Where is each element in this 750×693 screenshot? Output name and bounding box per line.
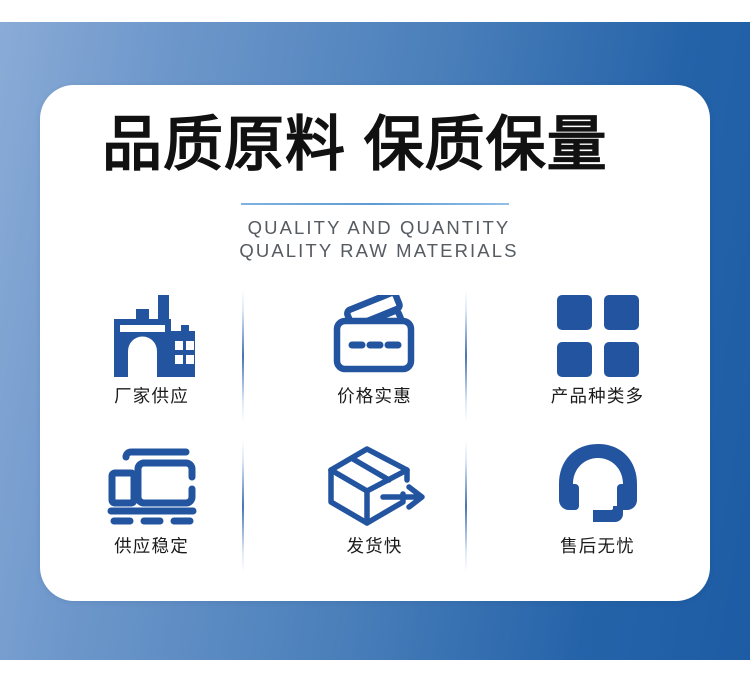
feature-item-product-variety[interactable]: 产品种类多 [486, 281, 709, 431]
feature-label: 产品种类多 [486, 385, 709, 407]
feature-label: 厂家供应 [40, 385, 263, 407]
feature-item-after-sales-support[interactable]: 售后无忧 [486, 431, 709, 581]
headset-icon [486, 441, 709, 531]
feature-row: 供应稳定 [40, 431, 710, 581]
wallet-cards-icon [263, 291, 486, 381]
feature-label: 发货快 [263, 535, 486, 557]
feature-label: 价格实惠 [263, 385, 486, 407]
stacked-panels-icon [40, 441, 263, 531]
title-underline-rule [241, 203, 509, 205]
factory-icon [40, 291, 263, 381]
feature-label: 供应稳定 [40, 535, 263, 557]
content-card: 品质原料 保质保量 QUALITY AND QUANTITY QUALITY R… [40, 85, 710, 601]
feature-item-fast-shipping[interactable]: 发货快 [263, 431, 486, 581]
subtitle-line-1: QUALITY AND QUANTITY [44, 216, 714, 239]
feature-item-factory-supply[interactable]: 厂家供应 [40, 281, 263, 431]
feature-grid: 厂家供应 [40, 281, 710, 601]
feature-item-affordable-price[interactable]: 价格实惠 [263, 281, 486, 431]
box-arrow-icon [263, 441, 486, 531]
four-squares-grid-icon [486, 291, 709, 381]
page-title: 品质原料 保质保量 [102, 112, 662, 178]
feature-item-stable-supply[interactable]: 供应稳定 [40, 431, 263, 581]
subtitle-line-2: QUALITY RAW MATERIALS [44, 239, 714, 262]
feature-label: 售后无忧 [486, 535, 709, 557]
feature-row: 厂家供应 [40, 281, 710, 431]
quality-materials-banner: 品质原料 保质保量 QUALITY AND QUANTITY QUALITY R… [0, 0, 750, 693]
